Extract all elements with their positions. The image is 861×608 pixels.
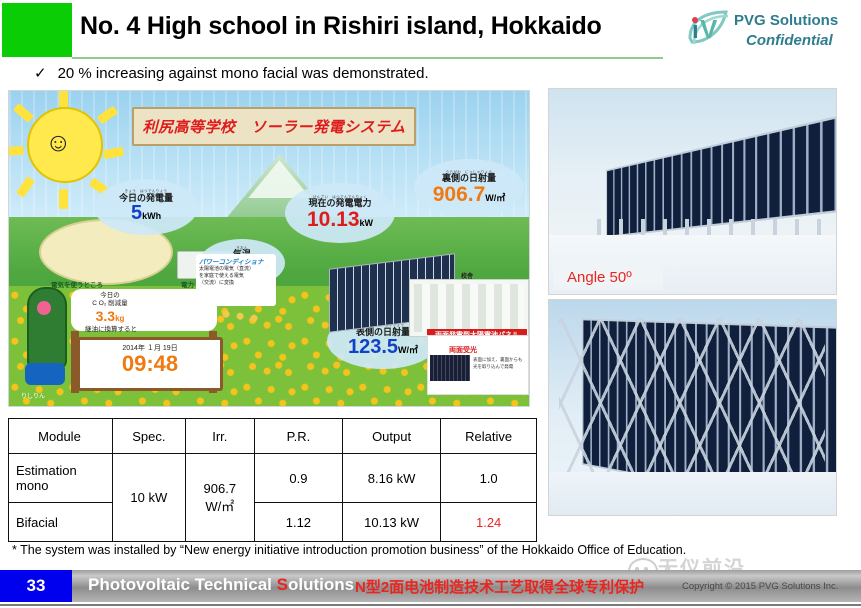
bubble-value: 10.13 xyxy=(307,208,360,231)
irr-unit: W/㎡ xyxy=(188,496,252,515)
solar-monitor-infographic: ☺ 利尻高等学校 ソーラー発電システム 電気を使うところ 電力 会社 りしりん … xyxy=(8,90,530,407)
pcs-title: パワーコンディショナ xyxy=(199,256,273,266)
pv-rear-frame xyxy=(559,318,825,488)
sun-ray xyxy=(8,146,24,157)
cell-pr-mono: 0.9 xyxy=(254,454,342,503)
footer-title-part2: olutions xyxy=(288,575,354,594)
bubble-label: 今日の発電量 xyxy=(119,194,173,203)
bubble-current-power: げんざい はつでんでんりょく 現在の発電電力 10.13kW xyxy=(285,183,395,243)
product-note-line1: 表面に加え、裏面からも xyxy=(473,357,523,364)
cell-spec: 10 kW xyxy=(112,454,185,542)
th-output: Output xyxy=(342,419,440,454)
th-module: Module xyxy=(9,419,113,454)
co2-value: 3.3 xyxy=(96,308,115,324)
sun-face: ☺ xyxy=(45,127,72,158)
cell-pr-bifacial: 1.12 xyxy=(254,503,342,542)
title-divider xyxy=(72,57,663,59)
footer-title-s: S xyxy=(277,575,288,594)
pvg-leaf-logo-icon: i V xyxy=(684,8,732,48)
pv-array-rear-photo xyxy=(548,299,837,516)
mascot-flower xyxy=(37,301,51,315)
cell-irr: 906.7 W/㎡ xyxy=(185,454,254,542)
product-note-line2: 光を取り込んで発電 xyxy=(473,364,523,371)
pcs-line-1: 太陽電池の電気（直流） xyxy=(199,266,273,273)
brand-logo: i V PVG Solutions Confidential xyxy=(684,8,856,54)
oil-label: 継油に換算すると xyxy=(76,326,146,334)
sun-ray xyxy=(59,90,68,107)
mascot-body xyxy=(27,287,67,369)
cell-output-mono: 8.16 kW xyxy=(342,454,440,503)
module-line2: mono xyxy=(16,478,110,493)
co2-label-line1: 今日の xyxy=(76,292,144,300)
bubble-unit: kWh xyxy=(142,211,161,221)
mascot-tree-icon xyxy=(23,287,67,391)
th-relative: Relative xyxy=(441,419,537,454)
irr-value: 906.7 xyxy=(188,481,252,496)
bubble-unit: W/㎡ xyxy=(485,193,505,203)
product-thumbnail xyxy=(430,355,470,381)
infographic-banner-text: 利尻高等学校 ソーラー発電システム xyxy=(142,116,405,137)
cell-relative-mono: 1.0 xyxy=(441,454,537,503)
bubble-value: 123.5 xyxy=(348,336,398,358)
green-accent-square xyxy=(2,3,72,57)
sun-icon: ☺ xyxy=(27,107,103,183)
mascot-base xyxy=(25,363,65,385)
product-callout-title: 両面受光 xyxy=(449,345,477,355)
bubble-unit: W/㎡ xyxy=(398,345,418,355)
slide-header: No. 4 High school in Rishiri island, Hok… xyxy=(0,0,861,60)
clock-board: 2014年 １月 19日 09:48 xyxy=(77,337,223,391)
product-note: 表面に加え、裏面からも 光を取り込んで発電 xyxy=(473,357,523,371)
school-label: 校舎 xyxy=(461,271,473,280)
footer-bottom-rule xyxy=(0,604,861,606)
pcs-line-3: （交流）に変換 xyxy=(199,280,273,287)
snow-ground xyxy=(549,472,836,515)
subtitle-bullet: ✓ 20 % increasing against mono facial wa… xyxy=(34,64,429,82)
check-icon: ✓ xyxy=(34,64,47,82)
confidential-label: Confidential xyxy=(746,32,833,49)
svg-text:V: V xyxy=(700,14,718,44)
footer-title-part1: Photovoltaic Technical xyxy=(88,575,277,594)
module-line1: Estimation xyxy=(16,463,110,478)
pcs-info-box: パワーコンディショナ 太陽電池の電気（直流） を家庭で使える電気 （交流）に変換 xyxy=(196,254,276,306)
brand-name: PVG Solutions xyxy=(734,12,838,29)
table-row: Estimation mono 10 kW 906.7 W/㎡ 0.9 8.16… xyxy=(9,454,537,503)
mascot-label: りしりん xyxy=(21,391,45,400)
footer-bar: 33 Photovoltaic Technical Solutions N型2面… xyxy=(0,570,861,602)
page-title: No. 4 High school in Rishiri island, Hok… xyxy=(80,12,602,41)
co2-unit: kg xyxy=(115,314,124,323)
subtitle-text: 20 % increasing against mono facial was … xyxy=(58,65,429,82)
footer-copyright: Copyright © 2015 PVG Solutions Inc. xyxy=(682,581,838,592)
page-number: 33 xyxy=(0,570,72,602)
clock-time: 09:48 xyxy=(80,353,220,375)
results-table: Module Spec. Irr. P.R. Output Relative E… xyxy=(8,418,537,542)
footer-title: Photovoltaic Technical Solutions xyxy=(88,575,354,595)
th-spec: Spec. xyxy=(112,419,185,454)
angle-value: Angle 50º xyxy=(553,269,632,286)
footer-chinese-text: N型2面电池制造技术工艺取得全球专利保护 xyxy=(355,576,644,597)
bubble-value: 5 xyxy=(131,202,142,224)
cell-module-mono: Estimation mono xyxy=(9,454,113,503)
co2-label-line2: C O₂ 削減量 xyxy=(76,300,144,308)
pcs-line-2: を家庭で使える電気 xyxy=(199,273,273,280)
angle-overlay-label: Angle 50º xyxy=(553,264,663,290)
footnote-text: * The system was installed by “New energ… xyxy=(12,543,686,557)
th-irr: Irr. xyxy=(185,419,254,454)
sun-ray xyxy=(59,189,68,209)
bubble-value: 906.7 xyxy=(433,183,486,206)
cell-relative-bifacial: 1.24 xyxy=(441,503,537,542)
th-pr: P.R. xyxy=(254,419,342,454)
bubble-unit: kW xyxy=(360,218,374,228)
cell-output-bifacial: 10.13 kW xyxy=(342,503,440,542)
table-row: Bifacial 1.12 10.13 kW 1.24 xyxy=(9,503,537,542)
bubble-rear-irradiance: うらがわ にっしゃりょう 裏側の日射量 906.7W/㎡ xyxy=(414,159,524,217)
cell-module-bifacial: Bifacial xyxy=(9,503,113,542)
bubble-today-generation: きょう はつでんりょう 今日の発電量 5kWh xyxy=(94,179,198,235)
infographic-banner: 利尻高等学校 ソーラー発電システム xyxy=(132,107,416,146)
table-header-row: Module Spec. Irr. P.R. Output Relative xyxy=(9,419,537,454)
